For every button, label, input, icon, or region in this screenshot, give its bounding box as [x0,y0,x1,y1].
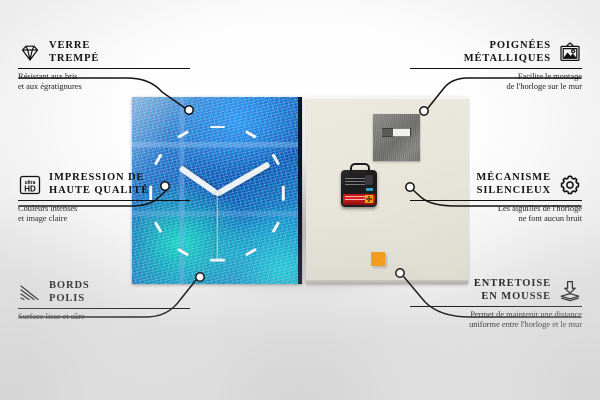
callout-title: VERRE TREMPÉ [49,40,99,65]
battery [343,194,375,205]
mechanism-knob [365,175,373,185]
mechanism-label [345,178,365,187]
callout-title: POIGNÉES MÉTALLIQUES [464,40,551,65]
callout-mecanisme-silencieux: MÉCANISME SILENCIEUX Les aiguilles de l'… [410,172,582,224]
battery-label [345,196,365,202]
callout-subtitle: Surface lisse et sûre [18,312,190,322]
callout-rule [410,68,582,69]
panel-top-edge [306,97,468,100]
callout-subtitle: Facilite le montage de l'horloge sur le … [410,72,582,92]
callout-subtitle: Permet de maintenir une distance uniform… [410,310,582,330]
callout-title: BORDS POLIS [49,280,90,305]
picture-frame-hanger-icon [558,41,582,65]
ultra-hd-icon: ultra HD [18,173,42,197]
callout-title: MÉCANISME SILENCIEUX [476,172,551,197]
second-hand [216,193,217,259]
callout-rule [18,308,190,309]
foam-spacer [371,252,385,266]
diamond-icon [18,41,42,65]
hanger-keyhole-slot [381,128,411,137]
callout-bords-polis: BORDS POLIS Surface lisse et sûre [18,280,190,322]
svg-text:HD: HD [24,184,36,193]
callout-subtitle: Résistant aux bris et aux égratignures [18,72,190,92]
callout-subtitle: Les aiguilles de l'horloge ne font aucun… [410,204,582,224]
mechanism-hook [350,163,370,174]
callout-rule [410,306,582,307]
battery-plus-terminal [365,195,373,203]
infographic-canvas: VERRE TREMPÉ Résistant aux bris et aux é… [0,0,600,400]
callout-verre-trempe: VERRE TREMPÉ Résistant aux bris et aux é… [18,40,190,92]
callout-subtitle: Couleurs intenses et image claire [18,204,190,224]
callout-impression-haute-qualite: ultra HD IMPRESSION DE HAUTE QUALITÉ Cou… [18,172,190,224]
callout-entretoise-en-mousse: ENTRETOISE EN MOUSSE Permet de maintenir… [410,278,582,330]
hour-marker [282,186,285,201]
quartz-mechanism [341,170,377,207]
hour-marker [210,126,225,129]
callout-rule [410,200,582,201]
metal-hanger-plate [373,114,420,161]
gear-icon [558,173,582,197]
callout-rule [18,200,190,201]
mechanism-marking [366,188,373,191]
glass-edge [298,97,302,284]
callout-title: IMPRESSION DE HAUTE QUALITÉ [49,172,149,197]
callout-rule [18,68,190,69]
arrow-down-stack-icon [558,279,582,303]
callout-poignees-metalliques: POIGNÉES MÉTALLIQUES Facilite le montage… [410,40,582,92]
clock-center-hub [215,191,220,196]
polished-edge-icon [18,281,42,305]
callout-title: ENTRETOISE EN MOUSSE [474,278,551,303]
